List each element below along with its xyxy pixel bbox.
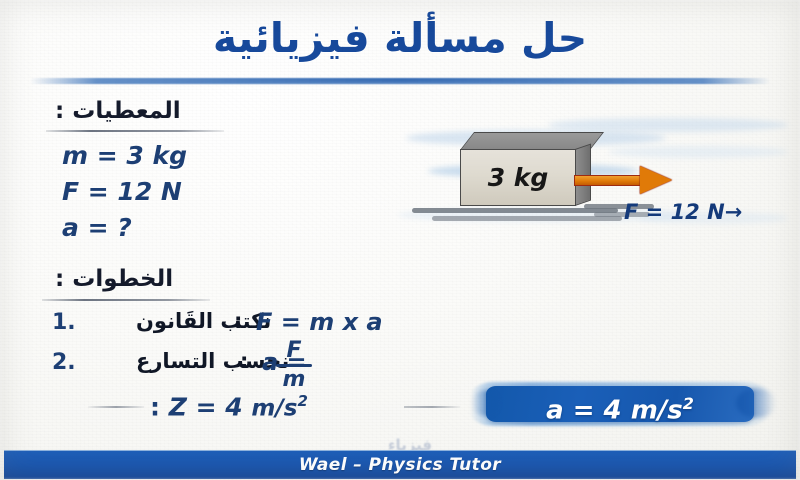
footer-credit: Wael – Physics Tutor [4,451,796,479]
fraction-numerator: F [272,340,316,362]
final-line-unit: m/s [251,395,297,421]
step-2-number: 2. [52,350,76,375]
final-line-rule-right [404,406,460,408]
title-divider [30,78,770,84]
step-1-number: 1. [52,310,76,335]
fraction-denominator: m [272,369,316,391]
steps-list: 1. نكتب القَانون : F = m x a 2. نحسب الت… [44,308,474,388]
given-force: F = 12 N [62,174,187,210]
page-title: حل مسألة فيزيائية [0,14,800,62]
step-1-equation: F = m x a [256,308,383,336]
givens-list: m = 3 kg F = 12 N a = ? [62,138,187,246]
result-unit: m/s [631,396,683,426]
givens-heading: المعطيات : [55,98,181,124]
watercolor-wash [548,118,788,132]
given-mass: m = 3 kg [62,138,187,174]
right-arrow-icon: → [725,200,743,224]
givens-heading-underline [46,130,224,132]
ground-line [432,216,622,221]
slide-canvas: حل مسألة فيزيائية المعطيات : m = 3 kg F … [0,0,800,480]
final-line-symbol: Z [169,392,187,421]
step-1: 1. نكتب القَانون : F = m x a [44,308,474,348]
footer-bar: Wael – Physics Tutor [4,450,796,479]
force-label-text: F = 12 N [624,200,725,224]
watercolor-wash [608,146,788,158]
result-highlight: a = 4 m/s2 [470,378,770,430]
final-line-value: 4 [225,392,242,421]
arrow-shaft [574,175,646,186]
force-label: F = 12 N→ [624,200,742,224]
result-equals: = [573,396,595,426]
steps-heading: الخطوات : [55,266,173,292]
step-2-colon: : [240,349,248,373]
step-final-result-line: : Z = 4 m/s2 [150,392,308,421]
given-acceleration: a = ? [62,210,187,246]
final-line-colon: : [150,392,160,421]
force-arrow-icon [574,167,678,193]
step-2: 2. نحسب التسارع : a = [44,348,474,388]
box-mass-label: 3 kg [460,149,576,206]
result-text: a = 4 m/s2 [486,386,754,422]
result-value: 4 [604,396,622,426]
result-exponent: 2 [683,394,694,413]
force-diagram: 3 kg F = 12 N→ [398,112,790,242]
arrow-head [640,166,672,194]
final-line-rule-left [88,406,144,408]
steps-heading-underline [42,299,210,301]
result-symbol: a [546,396,564,426]
fraction-force-over-mass: F m [272,340,316,391]
final-line-exponent: 2 [297,392,307,410]
step-1-arabic: نكتب القَانون [136,309,271,333]
step-1-colon: : [234,309,242,333]
final-line-equals: = [196,392,217,421]
